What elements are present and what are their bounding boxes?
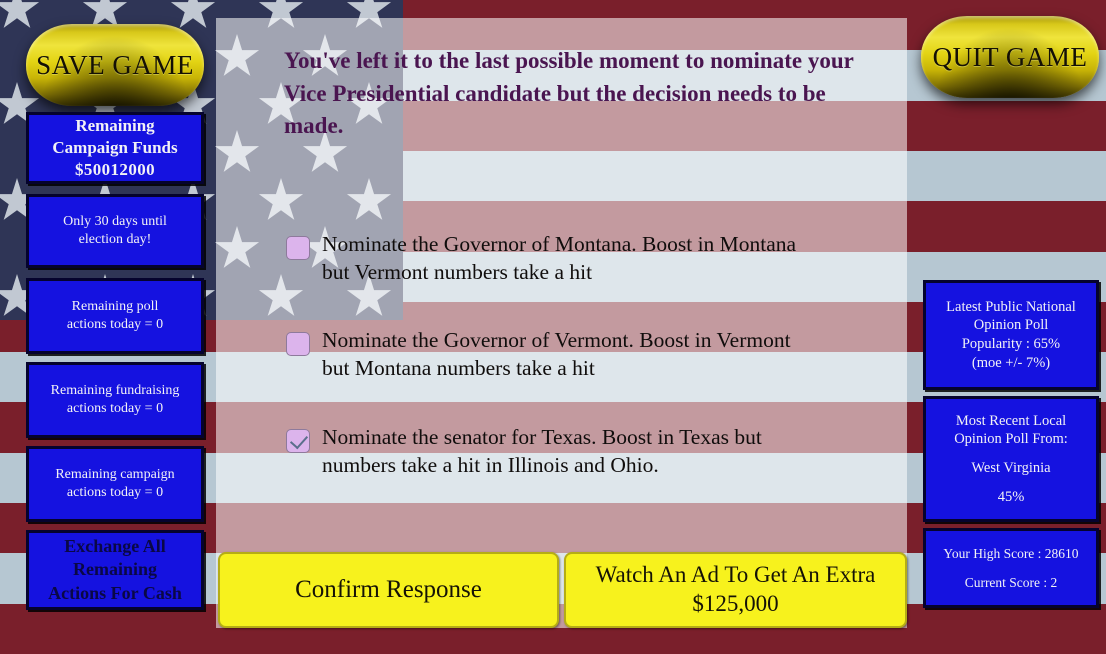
fundraising-actions-line-1: Remaining fundraising bbox=[29, 382, 201, 400]
remaining-poll-actions-panel: Remaining poll actions today = 0 bbox=[26, 278, 204, 354]
remaining-campaign-funds-panel: Remaining Campaign Funds $50012000 bbox=[26, 112, 204, 184]
national-opinion-poll-panel: Latest Public National Opinion Poll Popu… bbox=[923, 280, 1099, 390]
flag-star-icon bbox=[214, 34, 260, 80]
fundraising-actions-line-2: actions today = 0 bbox=[29, 400, 201, 418]
option-label-texas: Nominate the senator for Texas. Boost in… bbox=[322, 423, 762, 480]
option-row-texas[interactable]: Nominate the senator for Texas. Boost in… bbox=[286, 423, 886, 480]
remaining-fundraising-actions-panel: Remaining fundraising actions today = 0 bbox=[26, 362, 204, 438]
option-row-montana[interactable]: Nominate the Governor of Montana. Boost … bbox=[286, 230, 886, 287]
funds-amount: $50012000 bbox=[29, 159, 201, 181]
checkbox-texas[interactable] bbox=[286, 429, 310, 453]
local-poll-line-2: Opinion Poll From: bbox=[926, 430, 1096, 449]
remaining-campaign-actions-panel: Remaining campaign actions today = 0 bbox=[26, 446, 204, 522]
quit-game-button[interactable]: QUIT GAME bbox=[921, 16, 1099, 98]
local-poll-state: West Virginia bbox=[926, 459, 1096, 478]
exchange-line-1: Exchange All bbox=[29, 535, 201, 558]
high-score-value: Your High Score : 28610 bbox=[926, 545, 1096, 562]
exchange-line-2: Remaining bbox=[29, 558, 201, 581]
flag-star-icon bbox=[214, 130, 260, 176]
scenario-prompt-text: You've left it to the last possible mome… bbox=[284, 45, 884, 143]
local-poll-line-1: Most Recent Local bbox=[926, 412, 1096, 431]
checkbox-montana[interactable] bbox=[286, 236, 310, 260]
campaign-actions-line-2: actions today = 0 bbox=[29, 484, 201, 502]
national-poll-popularity: Popularity : 65% bbox=[926, 335, 1096, 354]
current-score-value: Current Score : 2 bbox=[926, 574, 1096, 591]
option-label-vermont: Nominate the Governor of Vermont. Boost … bbox=[322, 326, 791, 383]
funds-title-line-1: Remaining bbox=[29, 115, 201, 137]
flag-star-icon bbox=[346, 178, 392, 224]
flag-star-icon bbox=[346, 0, 392, 32]
days-until-election-panel: Only 30 days until election day! bbox=[26, 194, 204, 268]
option-row-vermont[interactable]: Nominate the Governor of Vermont. Boost … bbox=[286, 326, 886, 383]
exchange-line-3: Actions For Cash bbox=[29, 582, 201, 605]
local-opinion-poll-panel: Most Recent Local Opinion Poll From: Wes… bbox=[923, 396, 1099, 522]
funds-title-line-2: Campaign Funds bbox=[29, 137, 201, 159]
flag-star-icon bbox=[258, 178, 304, 224]
poll-actions-line-2: actions today = 0 bbox=[29, 316, 201, 334]
watch-ad-button[interactable]: Watch An Ad To Get An Extra $125,000 bbox=[564, 552, 907, 628]
exchange-actions-for-cash-button[interactable]: Exchange All Remaining Actions For Cash bbox=[26, 530, 204, 610]
checkbox-vermont[interactable] bbox=[286, 332, 310, 356]
days-line-2: election day! bbox=[29, 231, 201, 249]
option-label-montana: Nominate the Governor of Montana. Boost … bbox=[322, 230, 796, 287]
confirm-response-button[interactable]: Confirm Response bbox=[218, 552, 559, 628]
days-line-1: Only 30 days until bbox=[29, 213, 201, 231]
national-poll-line-1: Latest Public National bbox=[926, 298, 1096, 317]
poll-actions-line-1: Remaining poll bbox=[29, 298, 201, 316]
save-game-button[interactable]: SAVE GAME bbox=[26, 24, 204, 106]
national-poll-line-2: Opinion Poll bbox=[926, 316, 1096, 335]
flag-star-icon bbox=[0, 0, 40, 32]
local-poll-value: 45% bbox=[926, 488, 1096, 507]
campaign-actions-line-1: Remaining campaign bbox=[29, 466, 201, 484]
flag-star-icon bbox=[258, 0, 304, 32]
score-panel: Your High Score : 28610 Current Score : … bbox=[923, 528, 1099, 608]
game-screen: SAVE GAME QUIT GAME Remaining Campaign F… bbox=[0, 0, 1106, 654]
national-poll-margin-of-error: (moe +/- 7%) bbox=[926, 354, 1096, 373]
flag-star-icon bbox=[214, 226, 260, 272]
